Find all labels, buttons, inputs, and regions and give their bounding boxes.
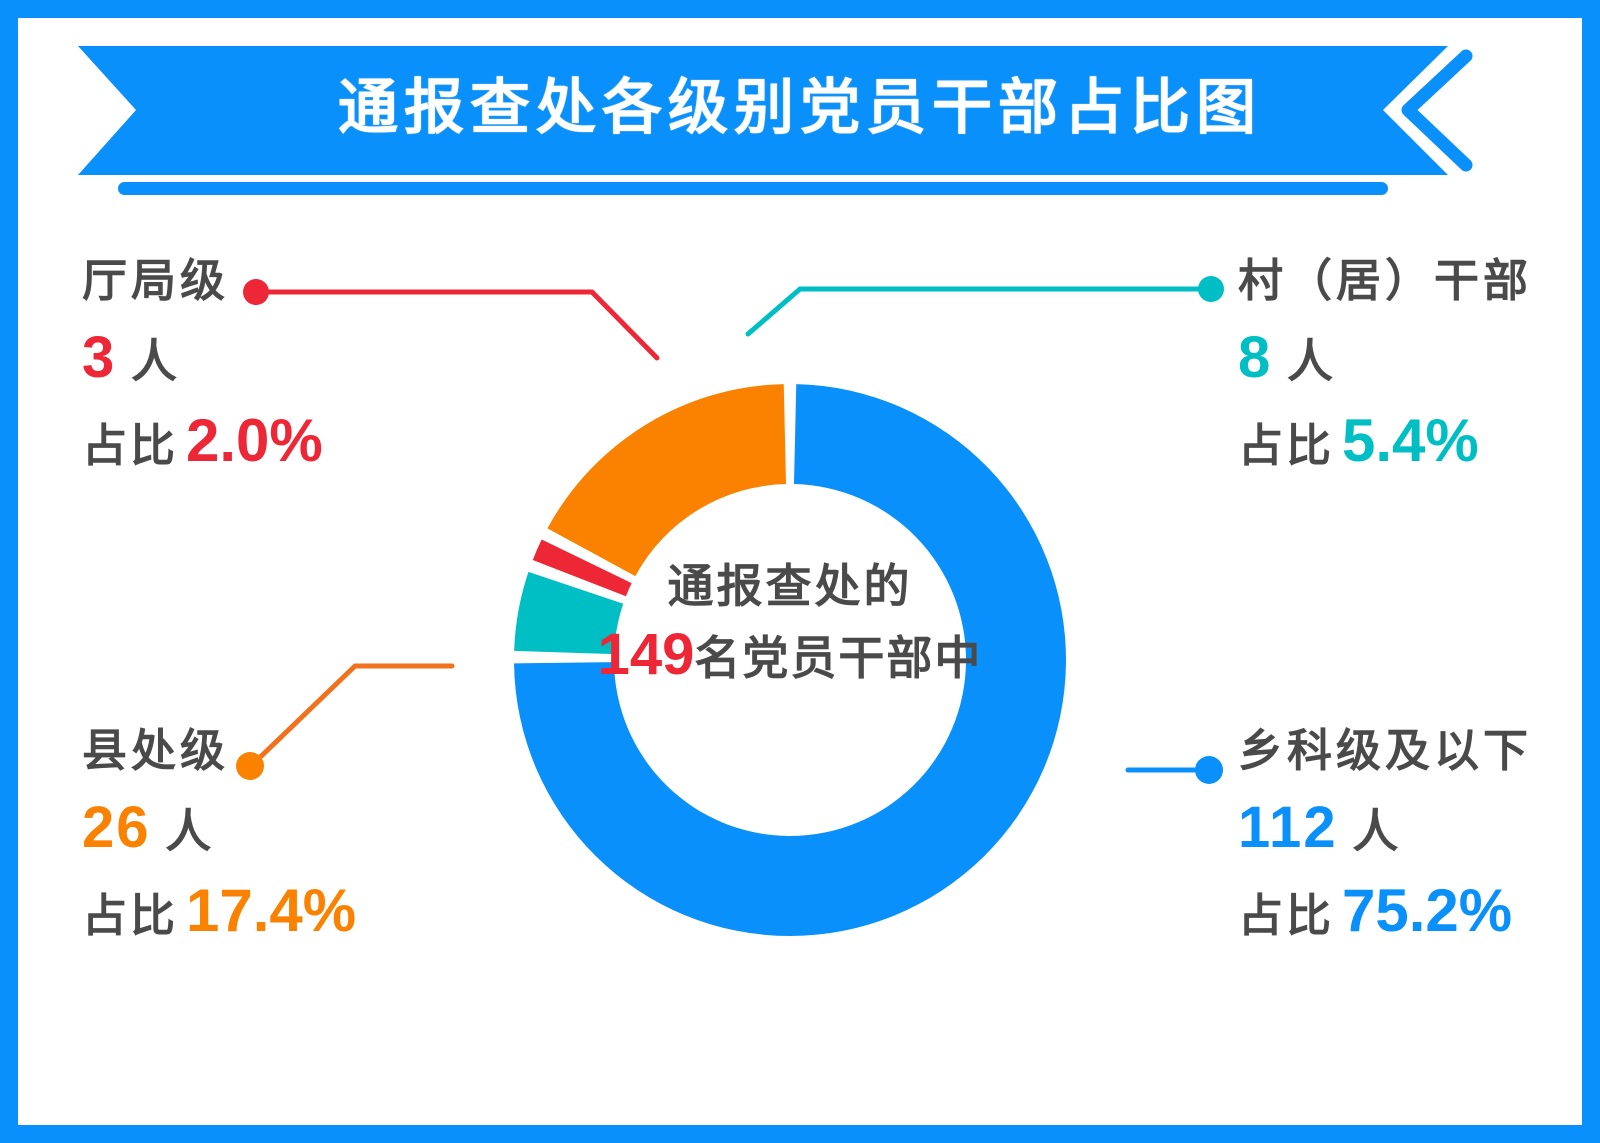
callout-cun-count: 8 人 [1238, 329, 1532, 387]
callout-xian-unit: 人 [165, 805, 213, 857]
callout-xian-name: 县处级 [82, 728, 356, 773]
leader-path-cun [748, 289, 1208, 334]
callout-ting-count-value: 3 [82, 325, 116, 390]
callout-cun-share-prefix: 占比 [1238, 420, 1334, 471]
callout-xiang-unit: 人 [1352, 805, 1400, 857]
callout-cun: 村（居）干部 8 人 占比5.4% [1238, 258, 1532, 471]
callout-xiang: 乡科级及以下 112 人 占比75.2% [1238, 728, 1532, 941]
callout-xiang-percent: 75.2% [1342, 877, 1512, 944]
callout-ting-unit: 人 [131, 335, 179, 387]
callout-xian-share-prefix: 占比 [82, 890, 178, 941]
callout-cun-name: 村（居）干部 [1238, 258, 1532, 303]
center-total: 149 [598, 622, 695, 687]
callout-xian-share: 占比17.4% [82, 881, 356, 941]
callout-ting-share-prefix: 占比 [82, 420, 178, 471]
callout-xiang-count: 112 人 [1238, 799, 1532, 857]
callout-cun-count-value: 8 [1238, 325, 1272, 390]
donut-slice-3[interactable] [547, 384, 786, 576]
callout-cun-share: 占比5.4% [1238, 411, 1532, 471]
leader-line-xiang [1128, 756, 1223, 784]
callout-ting-percent: 2.0% [186, 407, 323, 474]
callout-ting-count: 3 人 [82, 329, 323, 387]
leader-line-cun [748, 276, 1224, 334]
callout-ting-share: 占比2.0% [82, 411, 323, 471]
callout-ting: 厅局级 3 人 占比2.0% [82, 258, 323, 471]
donut-center-label: 通报查处的 149名党员干部中 [560, 556, 1020, 693]
callout-xiang-name: 乡科级及以下 [1238, 728, 1532, 773]
center-line-2: 149名党员干部中 [560, 617, 1020, 694]
callout-xiang-count-value: 112 [1238, 795, 1338, 860]
callout-xian-count: 26 人 [82, 799, 356, 857]
callout-xian-percent: 17.4% [186, 877, 356, 944]
callout-ting-name: 厅局级 [82, 258, 323, 303]
callout-xian-count-value: 26 [82, 795, 151, 860]
callout-xiang-share-prefix: 占比 [1238, 890, 1334, 941]
callout-cun-unit: 人 [1287, 335, 1335, 387]
center-total-suffix: 名党员干部中 [694, 632, 982, 684]
center-line-1: 通报查处的 [560, 556, 1020, 617]
leader-dot-cun [1198, 276, 1224, 302]
callout-cun-percent: 5.4% [1342, 407, 1479, 474]
leader-dot-xiang [1195, 756, 1223, 784]
callout-xiang-share: 占比75.2% [1238, 881, 1532, 941]
callout-xian: 县处级 26 人 占比17.4% [82, 728, 356, 941]
